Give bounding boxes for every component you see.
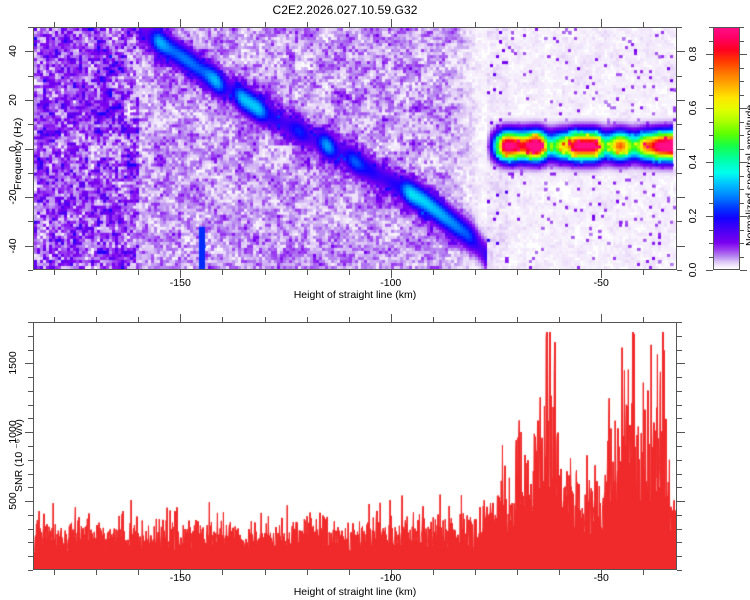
spectrogram-x-tick-top [307, 22, 308, 27]
spectrogram-x-tick-top [180, 19, 181, 27]
snr-y-tick [28, 460, 33, 461]
spectrogram-y-tick-right [677, 197, 685, 198]
spectrogram-y-tick [28, 270, 33, 271]
spectrogram-y-tick [25, 100, 33, 101]
colorbar-tick [709, 257, 713, 258]
spectrogram-x-tick-top [222, 22, 223, 27]
spectrogram-x-tick-top [54, 22, 55, 27]
colorbar-tick-right [740, 257, 744, 258]
spectrogram-x-tick-top [601, 19, 602, 27]
snr-y-tick-right [677, 322, 682, 323]
spectrogram-y-tick-right [677, 246, 685, 247]
spectrogram-image [34, 28, 676, 269]
snr-x-tick-top [96, 317, 97, 322]
spectrogram-y-tick [25, 51, 33, 52]
spectrogram-x-ticklabel: -100 [380, 277, 401, 289]
spectrogram-y-ticklabel: -40 [7, 238, 19, 253]
snr-y-tick-right [677, 460, 682, 461]
colorbar-ticklabel: 0.2 [687, 209, 699, 224]
spectrogram-y-axis-label: Frequency (Hz) [12, 118, 24, 190]
snr-y-tick [28, 405, 33, 406]
snr-y-tick [28, 529, 33, 530]
snr-y-tick-right [677, 418, 682, 419]
spectrogram-x-tick [433, 270, 434, 275]
snr-y-tick [28, 377, 33, 378]
spectrogram-x-axis-label: Height of straight line (km) [294, 289, 417, 301]
snr-x-ticklabel: -150 [170, 572, 191, 584]
snr-x-ticklabel: -50 [594, 572, 609, 584]
snr-y-tick-right [677, 363, 685, 364]
spectrogram-y-tick [28, 76, 33, 77]
colorbar-tick [709, 203, 713, 204]
snr-y-tick [25, 501, 33, 502]
colorbar-axis-label: Normalized spectral amplitude [744, 105, 750, 246]
snr-x-tick-top [559, 317, 560, 322]
spectrogram-y-tick-right [677, 173, 682, 174]
snr-x-tick-top [307, 317, 308, 322]
spectrogram-x-tick [559, 270, 560, 275]
snr-x-tick [349, 570, 350, 575]
colorbar-tick [709, 81, 713, 82]
snr-x-tick-top [643, 317, 644, 322]
colorbar-tick [709, 189, 713, 190]
spectrogram-y-tick-right [677, 27, 682, 28]
spectrogram-x-tick-top [391, 19, 392, 27]
spectrogram-y-tick [25, 197, 33, 198]
snr-x-tick [307, 570, 308, 575]
colorbar-ticklabel: 0.0 [687, 263, 699, 278]
spectrogram-x-tick [349, 270, 350, 275]
snr-x-tick [517, 570, 518, 575]
snr-y-tick-right [677, 570, 682, 571]
colorbar-tick [709, 68, 713, 69]
colorbar-tick [709, 149, 713, 150]
snr-x-tick-top [265, 317, 266, 322]
spectrogram-y-tick-right [677, 149, 685, 150]
snr-y-tick [28, 542, 33, 543]
spectrogram-y-tick [28, 173, 33, 174]
snr-x-tick-top [138, 317, 139, 322]
snr-x-tick [265, 570, 266, 575]
snr-y-tick-right [677, 446, 682, 447]
snr-y-tick [28, 322, 33, 323]
snr-x-tick [559, 570, 560, 575]
snr-x-tick [138, 570, 139, 575]
spectrogram-y-tick-right [677, 124, 682, 125]
colorbar-tick-right [740, 95, 744, 96]
spectrogram-x-tick [265, 270, 266, 275]
spectrogram-y-tick-right [677, 76, 682, 77]
snr-y-tick-right [677, 515, 682, 516]
figure-title: C2E2.2026.027.10.59.G32 [0, 3, 690, 17]
snr-plot-area [33, 322, 677, 570]
snr-y-tick-right [677, 556, 682, 557]
snr-y-tick [25, 432, 33, 433]
spectrogram-y-tick [25, 149, 33, 150]
spectrogram-x-tick-top [517, 22, 518, 27]
colorbar-tick [709, 176, 713, 177]
snr-x-axis-label: Height of straight line (km) [294, 586, 417, 598]
snr-y-tick-right [677, 432, 685, 433]
colorbar-tick [706, 108, 713, 109]
snr-y-tick [28, 515, 33, 516]
snr-x-tick-top [180, 314, 181, 322]
snr-y-axis-label: SNR (10 ⁻⁶ v/v) [13, 419, 25, 492]
colorbar [713, 27, 740, 270]
colorbar-gradient [714, 28, 739, 269]
snr-x-tick-top [54, 317, 55, 322]
spectrogram-y-ticklabel: 40 [7, 45, 19, 57]
snr-y-tick [28, 418, 33, 419]
colorbar-tick-right [740, 81, 744, 82]
colorbar-ticklabel: 0.8 [687, 47, 699, 62]
colorbar-tick-right [740, 41, 744, 42]
snr-y-tick [28, 556, 33, 557]
spectrogram-x-tick [222, 270, 223, 275]
spectrogram-x-ticklabel: -50 [594, 277, 609, 289]
spectrogram-x-tick [54, 270, 55, 275]
spectrogram-plot-area [33, 27, 677, 270]
colorbar-tick [709, 243, 713, 244]
spectrogram-x-tick-top [475, 22, 476, 27]
figure-root: C2E2.2026.027.10.59.G32 -150-100-50-40-2… [0, 0, 750, 600]
snr-x-tick-top [517, 317, 518, 322]
snr-x-tick-top [222, 317, 223, 322]
colorbar-tick [706, 216, 713, 217]
snr-x-tick [96, 570, 97, 575]
spectrogram-y-tick [25, 246, 33, 247]
spectrogram-y-tick-right [677, 51, 685, 52]
snr-y-tick-right [677, 501, 685, 502]
snr-y-tick-right [677, 350, 682, 351]
colorbar-tick [709, 135, 713, 136]
snr-y-tick-right [677, 377, 682, 378]
snr-x-tick-top [433, 317, 434, 322]
snr-x-tick-top [391, 314, 392, 322]
snr-y-tick [28, 446, 33, 447]
spectrogram-x-tick-top [643, 22, 644, 27]
spectrogram-y-ticklabel: 20 [7, 94, 19, 106]
snr-y-tick-right [677, 405, 682, 406]
colorbar-tick [709, 122, 713, 123]
snr-y-tick-right [677, 474, 682, 475]
snr-y-ticklabel: 1500 [7, 352, 19, 375]
spectrogram-x-tick [96, 270, 97, 275]
spectrogram-y-tick-right [677, 270, 682, 271]
snr-x-tick [433, 570, 434, 575]
snr-y-tick [28, 487, 33, 488]
spectrogram-x-tick-top [349, 22, 350, 27]
snr-x-tick-top [601, 314, 602, 322]
spectrogram-y-ticklabel: -20 [7, 190, 19, 205]
spectrogram-y-tick [28, 124, 33, 125]
colorbar-ticklabel: 0.4 [687, 155, 699, 170]
spectrogram-x-tick-top [138, 22, 139, 27]
snr-x-tick [54, 570, 55, 575]
colorbar-tick [709, 27, 713, 28]
spectrogram-y-tick-right [677, 221, 682, 222]
snr-y-tick [28, 350, 33, 351]
snr-x-tick [643, 570, 644, 575]
snr-y-tick-right [677, 542, 682, 543]
snr-y-tick-right [677, 529, 682, 530]
snr-y-tick [28, 336, 33, 337]
snr-y-tick [28, 391, 33, 392]
colorbar-tick [706, 162, 713, 163]
snr-y-tick-right [677, 487, 682, 488]
colorbar-ticklabel: 0.6 [687, 101, 699, 116]
spectrogram-x-tick [307, 270, 308, 275]
spectrogram-y-tick [28, 27, 33, 28]
snr-x-tick [222, 570, 223, 575]
snr-trace [34, 323, 676, 569]
snr-x-tick-top [475, 317, 476, 322]
colorbar-tick [706, 270, 713, 271]
spectrogram-y-tick-right [677, 100, 685, 101]
colorbar-tick [709, 230, 713, 231]
snr-y-tick-right [677, 391, 682, 392]
snr-y-tick [28, 474, 33, 475]
snr-x-tick-top [349, 317, 350, 322]
snr-y-tick [25, 363, 33, 364]
spectrogram-x-tick [517, 270, 518, 275]
colorbar-tick [709, 41, 713, 42]
snr-x-tick [475, 570, 476, 575]
spectrogram-y-tick [28, 221, 33, 222]
snr-y-tick-right [677, 336, 682, 337]
spectrogram-x-tick-top [265, 22, 266, 27]
spectrogram-x-tick-top [433, 22, 434, 27]
colorbar-tick-right [740, 27, 744, 28]
spectrogram-x-ticklabel: -150 [170, 277, 191, 289]
snr-y-tick [28, 570, 33, 571]
spectrogram-x-tick [138, 270, 139, 275]
colorbar-tick [709, 95, 713, 96]
colorbar-tick-right [740, 270, 747, 271]
snr-x-ticklabel: -100 [380, 572, 401, 584]
colorbar-tick-right [740, 68, 744, 69]
spectrogram-x-tick [643, 270, 644, 275]
spectrogram-x-tick-top [559, 22, 560, 27]
snr-y-ticklabel: 500 [7, 492, 19, 510]
colorbar-tick-right [740, 54, 747, 55]
spectrogram-x-tick [475, 270, 476, 275]
colorbar-tick [706, 54, 713, 55]
spectrogram-x-tick-top [96, 22, 97, 27]
